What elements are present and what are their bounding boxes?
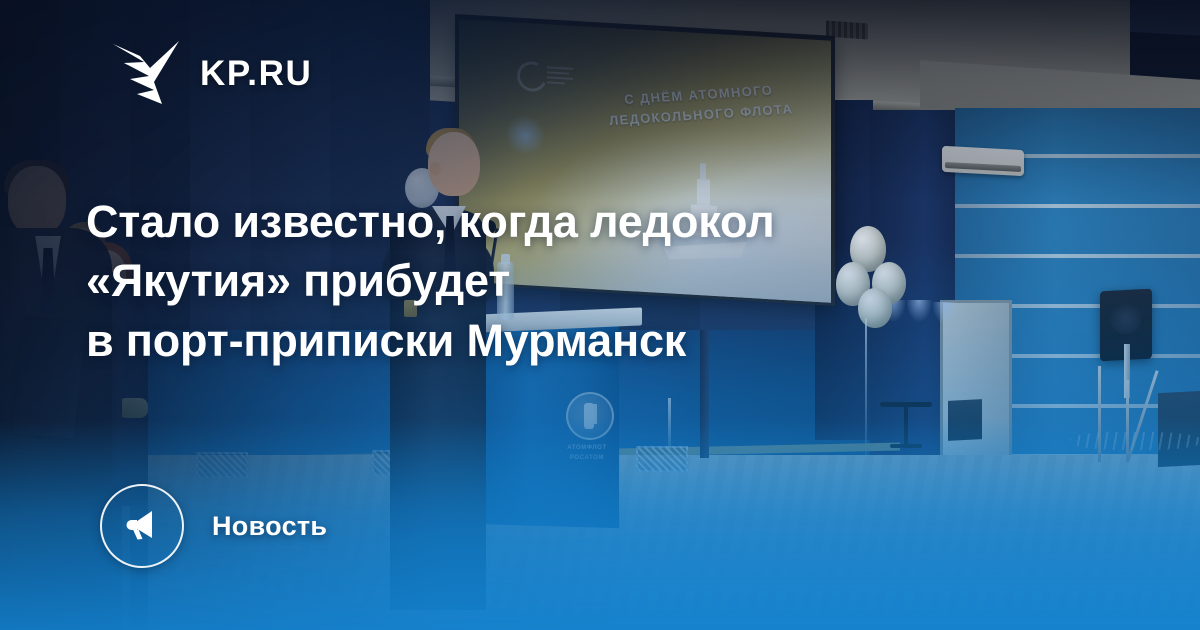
status-badge[interactable]: Новость [100, 484, 327, 568]
headline-line-3: в порт-приписки Мурманск [86, 311, 1026, 370]
badge-label: Новость [212, 511, 327, 542]
brand-logo[interactable]: KP.RU [110, 38, 312, 108]
news-card: С ДНЁМ АТОМНОГО ЛЕДОКОЛЬНОГО ФЛОТА АТОМФ… [0, 0, 1200, 630]
brand-name: KP.RU [200, 56, 312, 91]
headline-line-2: «Якутия» прибудет [86, 251, 1026, 310]
megaphone-icon [122, 504, 162, 549]
headline-line-1: Стало известно, когда ледокол [86, 192, 1026, 251]
swallow-bird-icon [110, 38, 182, 108]
page-title: Стало известно, когда ледокол «Якутия» п… [86, 192, 1026, 370]
badge-circle [100, 484, 184, 568]
